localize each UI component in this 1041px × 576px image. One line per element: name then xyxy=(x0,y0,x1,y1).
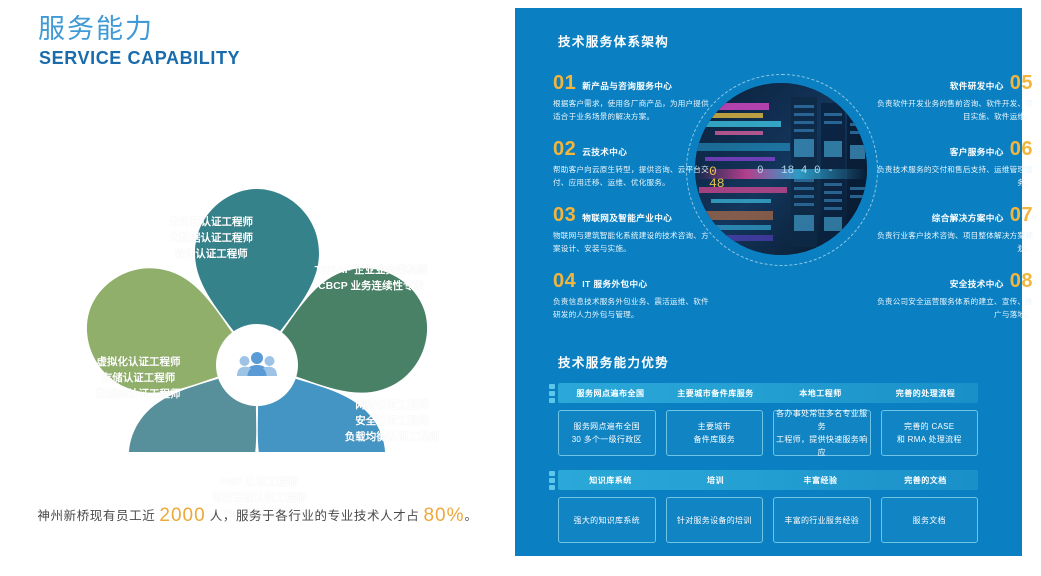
architecture-item-head: 客户服务中心 06 xyxy=(873,139,1033,159)
architecture-item-number: 05 xyxy=(1010,73,1033,93)
tick-mark-icon xyxy=(549,398,555,403)
architecture-item: 02 云技术中心 帮助客户向云原生转型，提供咨询、云平台交付、应用迁移、运维、优… xyxy=(553,139,713,189)
advantage-header-cell: 本地工程师 xyxy=(768,383,873,403)
architecture-item-head: 安全技术中心 08 xyxy=(873,271,1033,291)
advantage-header-cell: 服务网点遍布全国 xyxy=(558,383,663,403)
page-title-en: SERVICE CAPABILITY xyxy=(39,48,240,69)
advantage-header-cell: 培训 xyxy=(663,470,768,490)
architecture-item: 安全技术中心 08 负责公司安全运营服务体系的建立、宣传、推广与落地。 xyxy=(873,271,1033,321)
architecture-item: 01 新产品与咨询服务中心 根据客户需求，使用各厂商产品，为用户提供适合于业务场… xyxy=(553,73,713,123)
advantage-header-cell: 丰富经验 xyxy=(768,470,873,490)
petal-line: 安全认证工程师 xyxy=(302,413,482,429)
architecture-item-number: 01 xyxy=(553,73,576,93)
petal-line: 软件认证工程师 xyxy=(126,246,296,262)
advantage-cell: 服务网点遍布全国 30 多个一级行政区 xyxy=(558,410,656,456)
advantage-header-bar: 服务网点遍布全国 主要城市备件库服务 本地工程师 完善的处理流程 xyxy=(558,383,978,403)
advantage-row-block: 服务网点遍布全国 主要城市备件库服务 本地工程师 完善的处理流程 服务网点遍布全… xyxy=(558,383,978,456)
architecture-item-head: 综合解决方案中心 07 xyxy=(873,205,1033,225)
advantage-cell-line: 各办事处常驻多名专业服务 xyxy=(774,407,870,433)
advantage-header-bar: 知识库系统 培训 丰富经验 完善的文档 xyxy=(558,470,978,490)
architecture-item-number: 03 xyxy=(553,205,576,225)
advantage-body-row: 强大的知识库系统 针对服务设备的培训 丰富的行业服务经验 服务文档 xyxy=(558,497,978,543)
architecture-item: 软件研发中心 05 负责软件开发业务的售前咨询、软件开发、项目实施、软件运维。 xyxy=(873,73,1033,123)
left-pane: 服务能力 SERVICE CAPABILITY xyxy=(0,0,515,576)
tick-mark-icon xyxy=(549,478,555,483)
architecture-item-desc: 负责软件开发业务的售前咨询、软件开发、项目实施、软件运维。 xyxy=(873,97,1033,123)
architecture-item-head: 02 云技术中心 xyxy=(553,139,713,159)
advantage-table: 服务网点遍布全国 主要城市备件库服务 本地工程师 完善的处理流程 服务网点遍布全… xyxy=(558,383,978,557)
tick-mark-icon xyxy=(549,391,555,396)
advantage-cell-line: 强大的知识库系统 xyxy=(574,514,640,527)
section-heading-architecture: 技术服务体系架构 xyxy=(558,31,669,50)
petal-line: CBCP 业务连续性专家 xyxy=(276,278,466,294)
tick-mark-icon xyxy=(549,485,555,490)
people-group-icon xyxy=(237,350,277,380)
architecture-item-desc: 负责公司安全运营服务体系的建立、宣传、推广与落地。 xyxy=(873,295,1033,321)
architecture-item-title: IT 服务外包中心 xyxy=(582,278,647,290)
advantage-cell-line: 服务网点遍布全国 xyxy=(574,420,640,433)
architecture-item-desc: 根据客户需求，使用各厂商产品，为用户提供适合于业务场景的解决方案。 xyxy=(553,97,713,123)
petal-line: 虚拟化认证工程师 xyxy=(51,354,226,370)
advantage-row-block: 知识库系统 培训 丰富经验 完善的文档 强大的知识库系统 针对服务设备的培训 丰… xyxy=(558,470,978,543)
architecture-item-head: 03 物联网及智能产业中心 xyxy=(553,205,713,225)
advantage-cell-line: 针对服务设备的培训 xyxy=(677,514,752,527)
advantage-cell-line: 主要城市 xyxy=(698,420,731,433)
advantage-cell-line: 工程师，提供快速服务响应 xyxy=(774,433,870,459)
architecture-item-number: 07 xyxy=(1010,205,1033,225)
petal-line: PMP 认证工程师 xyxy=(164,474,354,490)
architecture-item-desc: 物联网与建筑智能化系统建设的技术咨询、方案设计、安装与实施。 xyxy=(553,229,713,255)
architecture-item-title: 云技术中心 xyxy=(582,146,627,158)
advantage-header-cell: 知识库系统 xyxy=(558,470,663,490)
petal-line: 云计算认证工程师 xyxy=(126,214,296,230)
svg-text:0: 0 xyxy=(757,165,764,177)
petal-line: 数据库认证工程师 xyxy=(51,386,226,402)
architecture-item: 综合解决方案中心 07 负责行业客户技术咨询、项目整体解决方案规划。 xyxy=(873,205,1033,255)
architecture-item-desc: 负责信息技术服务外包业务、震活运维、软件研发的人力外包与管理。 xyxy=(553,295,713,321)
petal-line: 存储认证工程师 xyxy=(51,370,226,386)
advantage-cell: 强大的知识库系统 xyxy=(558,497,656,543)
advantage-cell-line: 丰富的行业服务经验 xyxy=(784,514,859,527)
data-center-photo: 048 018 4 0 - xyxy=(695,83,867,255)
advantage-cell-line: 和 RMA 处理流程 xyxy=(897,433,962,446)
tick-mark-icon xyxy=(549,471,555,476)
advantage-header-cell: 完善的处理流程 xyxy=(873,383,978,403)
architecture-item-desc: 帮助客户向云原生转型，提供咨询、云平台交付、应用迁移、运维、优化服务。 xyxy=(553,163,713,189)
page-title-zh: 服务能力 xyxy=(38,14,154,45)
architecture-item-head: 软件研发中心 05 xyxy=(873,73,1033,93)
footnote: 神州新桥现有员工近 2000 人，服务于各行业的专业技术人才占 80%。 xyxy=(0,505,515,527)
footnote-part3: 。 xyxy=(464,509,477,523)
footnote-part1: 神州新桥现有员工近 xyxy=(37,509,155,523)
architecture-item-title: 软件研发中心 xyxy=(950,80,1004,92)
flower-diagram: 云计算认证工程师 大数据认证工程师 软件认证工程师 TOGAF 企业业务架构师 … xyxy=(36,92,476,452)
petal-line: 项目管理认证工程师 xyxy=(164,490,354,506)
flower-center xyxy=(221,329,293,401)
architecture-item: 03 物联网及智能产业中心 物联网与建筑智能化系统建设的技术咨询、方案设计、安装… xyxy=(553,205,713,255)
footnote-part2: 人，服务于各行业的专业技术人才占 xyxy=(210,509,420,523)
tick-mark-icon xyxy=(549,384,555,389)
architecture-item-number: 04 xyxy=(553,271,576,291)
advantage-cell: 丰富的行业服务经验 xyxy=(773,497,871,543)
architecture-item-desc: 负责技术服务的交付和售后支持、运维管理服务。 xyxy=(873,163,1033,189)
footnote-number-percent: 80% xyxy=(423,505,464,526)
advantage-cell-line: 服务文档 xyxy=(913,514,946,527)
data-center-image: 048 018 4 0 - xyxy=(695,83,867,255)
advantage-cell: 服务文档 xyxy=(881,497,979,543)
advantage-cell-line: 备件库服务 xyxy=(694,433,736,446)
architecture-item-title: 物联网及智能产业中心 xyxy=(582,212,672,224)
architecture-item-title: 客户服务中心 xyxy=(950,146,1004,158)
architecture-items-left: 01 新产品与咨询服务中心 根据客户需求，使用各厂商产品，为用户提供适合于业务场… xyxy=(553,73,713,337)
advantage-cell: 主要城市 备件库服务 xyxy=(666,410,764,456)
petal-label-cloud: 云计算认证工程师 大数据认证工程师 软件认证工程师 xyxy=(126,214,296,262)
petal-label-virtualization: 虚拟化认证工程师 存储认证工程师 数据库认证工程师 xyxy=(51,354,226,402)
petal-line: 网络认证工程师 xyxy=(302,397,482,413)
architecture-item-head: 01 新产品与咨询服务中心 xyxy=(553,73,713,93)
petal-line: TOGAF 企业业务架构师 xyxy=(276,262,466,278)
advantage-cell: 各办事处常驻多名专业服务 工程师，提供快速服务响应 xyxy=(773,410,871,456)
advantage-cell: 完善的 CASE 和 RMA 处理流程 xyxy=(881,410,979,456)
petal-line: 负载均衡认证工程师 xyxy=(302,429,482,445)
right-blue-panel: 技术服务体系架构 xyxy=(515,8,1022,556)
petal-label-togaf: TOGAF 企业业务架构师 CBCP 业务连续性专家 xyxy=(276,262,466,294)
advantage-header-cell: 主要城市备件库服务 xyxy=(663,383,768,403)
architecture-item-number: 02 xyxy=(553,139,576,159)
architecture-item-title: 安全技术中心 xyxy=(950,278,1004,290)
advantage-cell: 针对服务设备的培训 xyxy=(666,497,764,543)
architecture-item: 客户服务中心 06 负责技术服务的交付和售后支持、运维管理服务。 xyxy=(873,139,1033,189)
slide-root: 服务能力 SERVICE CAPABILITY xyxy=(0,0,1041,576)
advantage-cell-line: 完善的 CASE xyxy=(904,420,954,433)
architecture-items-right: 软件研发中心 05 负责软件开发业务的售前咨询、软件开发、项目实施、软件运维。 … xyxy=(873,73,1033,337)
section-heading-advantage: 技术服务能力优势 xyxy=(558,352,669,371)
architecture-item-number: 06 xyxy=(1010,139,1033,159)
svg-text:18 4 0 -: 18 4 0 - xyxy=(781,165,834,177)
architecture-item-title: 综合解决方案中心 xyxy=(932,212,1004,224)
footnote-number-employees: 2000 xyxy=(159,505,205,526)
architecture-item-title: 新产品与咨询服务中心 xyxy=(582,80,672,92)
advantage-body-row: 服务网点遍布全国 30 多个一级行政区 主要城市 备件库服务 各办事处常驻多名专… xyxy=(558,410,978,456)
advantage-cell-line: 30 多个一级行政区 xyxy=(572,433,642,446)
architecture-item: 04 IT 服务外包中心 负责信息技术服务外包业务、震活运维、软件研发的人力外包… xyxy=(553,271,713,321)
architecture-item-desc: 负责行业客户技术咨询、项目整体解决方案规划。 xyxy=(873,229,1033,255)
petal-label-network: 网络认证工程师 安全认证工程师 负载均衡认证工程师 xyxy=(302,397,482,445)
architecture-item-number: 08 xyxy=(1010,271,1033,291)
architecture-item-head: 04 IT 服务外包中心 xyxy=(553,271,713,291)
petal-line: 大数据认证工程师 xyxy=(126,230,296,246)
advantage-header-cell: 完善的文档 xyxy=(873,470,978,490)
